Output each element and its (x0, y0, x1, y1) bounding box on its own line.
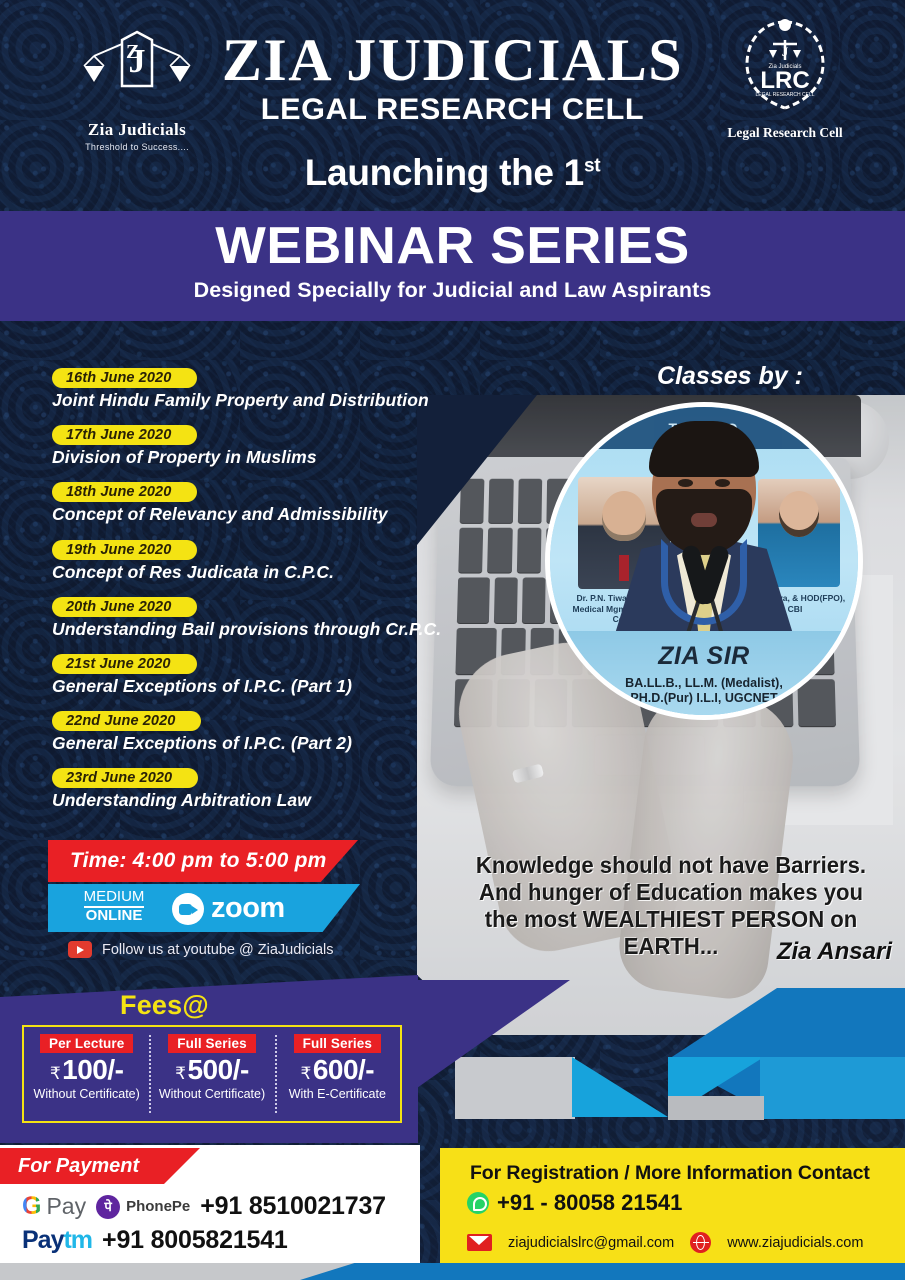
schedule-date-badge: 23rd June 2020 (52, 768, 198, 788)
footer-strip-blue (300, 1263, 905, 1280)
fees-table: Per Lecture ₹100/- Without Certificate) … (22, 1025, 402, 1123)
quote-line-2: And hunger of Education makes you (449, 879, 893, 906)
email-address[interactable]: ziajudicialslrc@gmail.com (508, 1235, 674, 1251)
instructor-figure (606, 427, 802, 659)
youtube-follow-row[interactable]: Follow us at youtube @ ZiaJudicials (68, 941, 334, 958)
registration-title: For Registration / More Information Cont… (470, 1162, 870, 1185)
schedule-item: 22nd June 2020 General Exceptions of I.P… (52, 711, 472, 754)
medium-label: MEDIUM ONLINE (66, 889, 162, 924)
fee-tag: Full Series (168, 1034, 255, 1053)
instructor-credentials-line1: BA.LL.B., LL.M. (Medalist), (550, 676, 858, 692)
rupee-icon: ₹ (300, 1064, 310, 1083)
fee-amount: 500/- (187, 1054, 248, 1085)
schedule-item: 16th June 2020 Joint Hindu Family Proper… (52, 368, 472, 411)
time-ribbon: Time: 4:00 pm to 5:00 pm (48, 840, 358, 882)
schedule-date-badge: 20th June 2020 (52, 597, 197, 617)
geometric-block-grey-2 (668, 1096, 764, 1120)
schedule-date-badge: 18th June 2020 (52, 482, 197, 502)
video-camera-icon (172, 893, 204, 925)
payment-row-1: G Pay पे PhonePe +91 8510021737 (22, 1192, 386, 1221)
instructor-eye-right (715, 479, 730, 487)
phonepe-icon: पे (96, 1195, 120, 1219)
schedule-date-badge: 16th June 2020 (52, 368, 197, 388)
zoom-wordmark: zoom (211, 892, 285, 925)
schedule-topic: General Exceptions of I.P.C. (Part 2) (52, 733, 472, 754)
schedule-item: 23rd June 2020 Understanding Arbitration… (52, 768, 472, 811)
schedule-topic: General Exceptions of I.P.C. (Part 1) (52, 676, 472, 697)
schedule-topic: Division of Property in Muslims (52, 447, 472, 468)
instructor-portrait: TECHNO Dr. P.N. Tiwari, Member, Medical … (545, 402, 863, 720)
google-pay-label: Pay (46, 1193, 86, 1220)
rupee-icon: ₹ (50, 1064, 60, 1083)
fee-note: Without Certificate) (149, 1087, 274, 1101)
registration-panel: For Registration / More Information Cont… (440, 1148, 905, 1263)
schedule-item: 21st June 2020 General Exceptions of I.P… (52, 654, 472, 697)
rupee-icon: ₹ (175, 1064, 185, 1083)
svg-text:J: J (782, 44, 789, 59)
schedule-date-badge: 19th June 2020 (52, 540, 197, 560)
svg-text:LRC: LRC (760, 67, 809, 94)
phonepe-logo: पे PhonePe (96, 1195, 190, 1219)
instructor-hair (649, 421, 759, 477)
fee-price: ₹600/- (275, 1054, 400, 1086)
schedule-topic: Understanding Arbitration Law (52, 790, 472, 811)
schedule-topic: Concept of Res Judicata in C.P.C. (52, 562, 472, 583)
schedule-date-badge: 22nd June 2020 (52, 711, 201, 731)
schedule-item: 20th June 2020 Understanding Bail provis… (52, 597, 472, 640)
schedule-item: 18th June 2020 Concept of Relevancy and … (52, 482, 472, 525)
email-icon[interactable] (467, 1234, 492, 1251)
launching-text: Launching the 1 (305, 152, 584, 193)
instructor-head (652, 427, 756, 549)
payment-row-2: Paytm +91 8005821541 (22, 1226, 288, 1255)
geometric-block-purple-triangle (400, 980, 570, 1100)
fee-item: Full Series ₹600/- With E-Certificate (275, 1027, 400, 1121)
contact-links-row: ziajudicialslrc@gmail.com www.ziajudicia… (467, 1232, 863, 1253)
fees-title: Fees@ (120, 990, 209, 1021)
payment-phone-1: +91 8510021737 (200, 1192, 386, 1221)
fee-note: With E-Certificate (275, 1087, 400, 1101)
google-pay-logo: G Pay (22, 1192, 86, 1221)
youtube-follow-text: Follow us at youtube @ ZiaJudicials (102, 942, 334, 958)
phonepe-label: PhonePe (126, 1198, 190, 1215)
whatsapp-row[interactable]: +91 - 80058 21541 (467, 1190, 682, 1216)
youtube-icon[interactable] (68, 941, 92, 958)
webinar-series-banner: WEBINAR SERIES Designed Specially for Ju… (0, 211, 905, 321)
webinar-series-title: WEBINAR SERIES (0, 219, 905, 274)
schedule-date-badge: 21st June 2020 (52, 654, 197, 674)
fee-amount: 100/- (62, 1054, 123, 1085)
payment-phone-2: +91 8005821541 (102, 1226, 288, 1255)
lrc-crest-icon: J Zia Judicials LRC LEGAL RESEARCH CELL (733, 16, 837, 116)
schedule-date-badge: 17th June 2020 (52, 425, 197, 445)
medium-label-top: MEDIUM (84, 889, 145, 908)
webinar-series-subtitle: Designed Specially for Judicial and Law … (0, 278, 905, 303)
paytm-tm-text: tm (63, 1226, 92, 1254)
schedule-topic: Concept of Relevancy and Admissibility (52, 504, 472, 525)
whatsapp-icon[interactable] (467, 1192, 489, 1214)
instructor-eye-left (678, 479, 693, 487)
quote-author: Zia Ansari (440, 938, 892, 966)
fee-note: Without Certificate) (24, 1087, 149, 1101)
logo-right-name: Legal Research Cell (705, 125, 865, 141)
schedule-topic: Joint Hindu Family Property and Distribu… (52, 390, 472, 411)
poster-root: J Z Zia Judicials Threshold to Success..… (0, 0, 905, 1280)
zoom-logo: zoom (172, 892, 285, 925)
geometric-block-cyan-1 (572, 1057, 668, 1117)
instructor-credentials-line2: PH.D.(Pur) I.L.I, UGCNET (550, 691, 858, 707)
svg-text:LEGAL RESEARCH CELL: LEGAL RESEARCH CELL (755, 92, 814, 98)
instructor-mouth (691, 513, 717, 527)
poster-header: J Z Zia Judicials Threshold to Success..… (0, 0, 905, 212)
fee-amount: 600/- (313, 1054, 374, 1085)
website-url[interactable]: www.ziajudicials.com (727, 1235, 863, 1251)
geometric-block-blue-2 (760, 1057, 905, 1119)
instructor-name: ZIA SIR (550, 642, 858, 671)
fee-price: ₹100/- (24, 1054, 149, 1086)
schedule-item: 17th June 2020 Division of Property in M… (52, 425, 472, 468)
classes-by-label: Classes by : (600, 362, 860, 391)
globe-icon[interactable] (690, 1232, 711, 1253)
webinar-schedule-list: 16th June 2020 Joint Hindu Family Proper… (52, 368, 472, 826)
fee-price: ₹500/- (149, 1054, 274, 1086)
fee-item: Per Lecture ₹100/- Without Certificate) (24, 1027, 149, 1121)
whatsapp-number: +91 - 80058 21541 (497, 1190, 682, 1216)
instructor-credentials: BA.LL.B., LL.M. (Medalist), PH.D.(Pur) I… (550, 676, 858, 707)
schedule-topic: Understanding Bail provisions through Cr… (52, 619, 472, 640)
fee-tag: Full Series (294, 1034, 381, 1053)
schedule-item: 19th June 2020 Concept of Res Judicata i… (52, 540, 472, 583)
paytm-pay-text: Pay (22, 1226, 63, 1254)
medium-label-bottom: ONLINE (66, 908, 162, 924)
paytm-logo: Paytm (22, 1226, 92, 1255)
launching-ordinal-suffix: st (584, 156, 600, 177)
logo-left-tagline: Threshold to Success.... (62, 142, 212, 152)
launching-headline: Launching the 1st (0, 152, 905, 194)
google-g-icon: G (22, 1192, 41, 1221)
fee-tag: Per Lecture (40, 1034, 133, 1053)
fee-item: Full Series ₹500/- Without Certificate) (149, 1027, 274, 1121)
legal-research-cell-logo: J Zia Judicials LRC LEGAL RESEARCH CELL … (705, 16, 865, 141)
quote-line-1: Knowledge should not have Barriers. (449, 852, 893, 879)
